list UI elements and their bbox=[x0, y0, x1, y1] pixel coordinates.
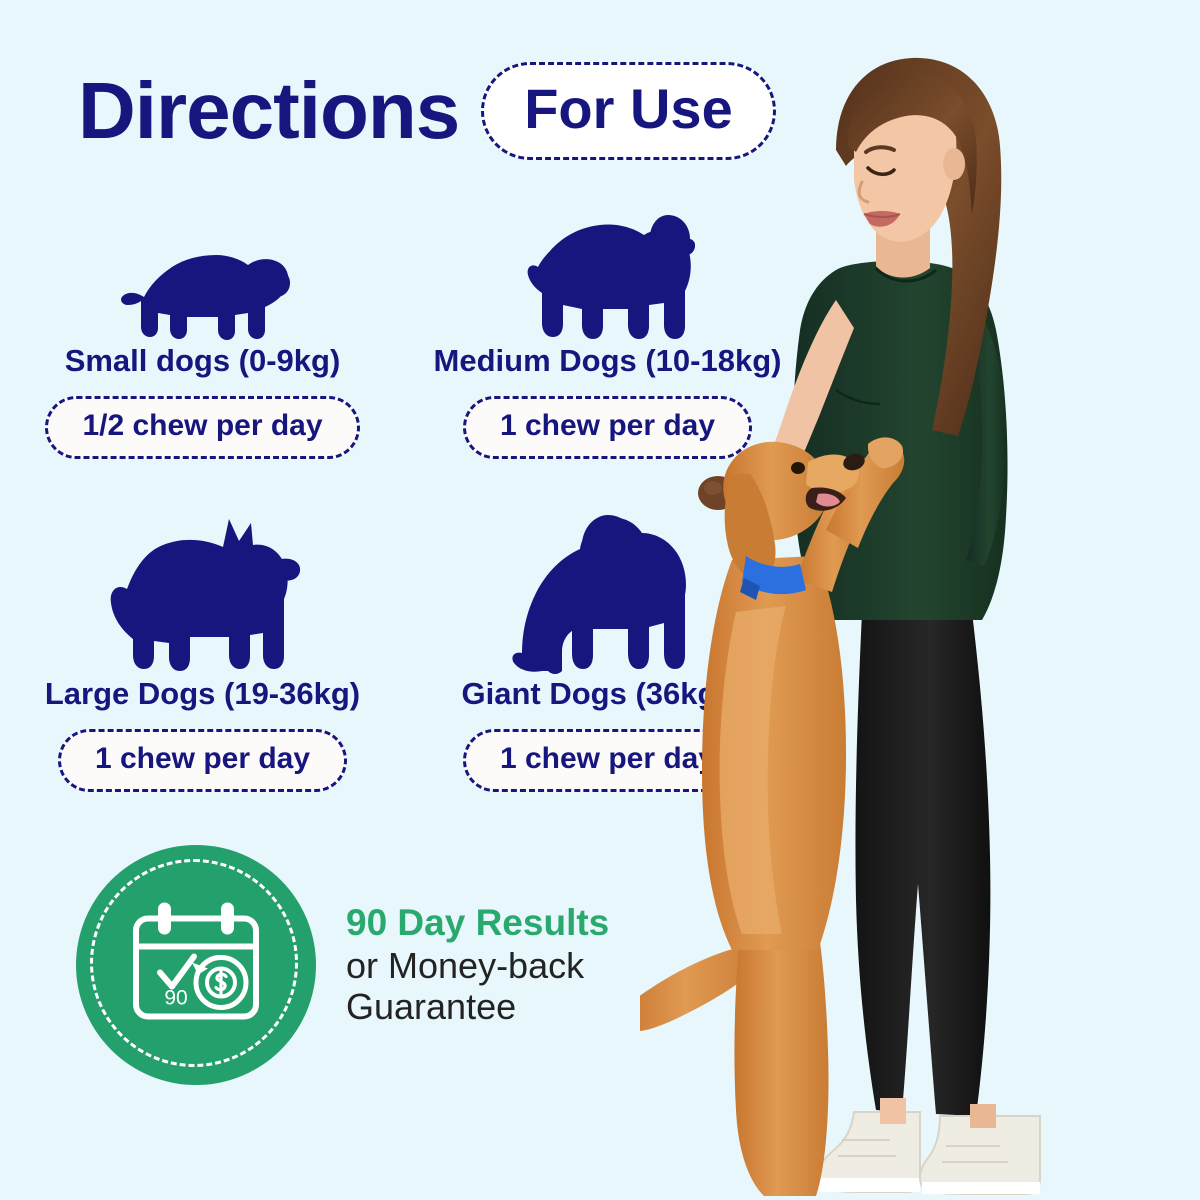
dosage-row: Small dogs (0-9kg) 1/2 chew per day Medi… bbox=[0, 215, 810, 465]
dosage-cell-medium: Medium Dogs (10-18kg) 1 chew per day bbox=[405, 215, 810, 465]
dosage-grid: Small dogs (0-9kg) 1/2 chew per day Medi… bbox=[0, 215, 810, 792]
giant-dog-silhouette-icon bbox=[508, 503, 708, 678]
small-dog-silhouette-icon bbox=[108, 215, 298, 345]
dosage-label: Medium Dogs (10-18kg) bbox=[434, 345, 782, 376]
dosage-amount: 1 chew per day bbox=[463, 729, 752, 792]
dosage-label: Small dogs (0-9kg) bbox=[65, 345, 341, 376]
dosage-label: Large Dogs (19-36kg) bbox=[45, 678, 360, 709]
page-header: Directions For Use bbox=[78, 62, 776, 160]
guarantee-block: 90 90 Day Results or Money-back Guarante… bbox=[76, 845, 609, 1085]
page-title: Directions bbox=[78, 71, 459, 151]
badge-days-text: 90 bbox=[164, 987, 187, 1010]
for-use-badge: For Use bbox=[481, 62, 776, 160]
woman-pants bbox=[855, 612, 990, 1116]
dosage-label: Giant Dogs (36kg +) bbox=[462, 678, 754, 709]
dosage-cell-large: Large Dogs (19-36kg) 1 chew per day bbox=[0, 503, 405, 792]
dosage-row: Large Dogs (19-36kg) 1 chew per day Gian… bbox=[0, 503, 810, 792]
woman-head bbox=[836, 58, 1001, 436]
woman-shirt bbox=[793, 261, 1008, 620]
large-dog-silhouette-icon bbox=[103, 503, 303, 678]
guarantee-badge: 90 bbox=[76, 845, 316, 1085]
infographic-canvas: Directions For Use Small dogs (0-9kg) 1/… bbox=[0, 0, 1200, 1200]
dosage-amount: 1 chew per day bbox=[463, 396, 752, 459]
guarantee-line-3: Guarantee bbox=[346, 986, 609, 1028]
dosage-amount: 1/2 chew per day bbox=[45, 396, 359, 459]
guarantee-headline: 90 Day Results bbox=[346, 902, 609, 945]
woman-shoes bbox=[818, 1112, 1040, 1194]
dosage-amount: 1 chew per day bbox=[58, 729, 347, 792]
guarantee-line-2: or Money-back bbox=[346, 945, 609, 987]
calendar-money-back-icon: 90 bbox=[130, 901, 262, 1030]
guarantee-text: 90 Day Results or Money-back Guarantee bbox=[346, 902, 609, 1028]
medium-dog-silhouette-icon bbox=[520, 215, 695, 345]
dosage-cell-small: Small dogs (0-9kg) 1/2 chew per day bbox=[0, 215, 405, 465]
dosage-cell-giant: Giant Dogs (36kg +) 1 chew per day bbox=[405, 503, 810, 792]
